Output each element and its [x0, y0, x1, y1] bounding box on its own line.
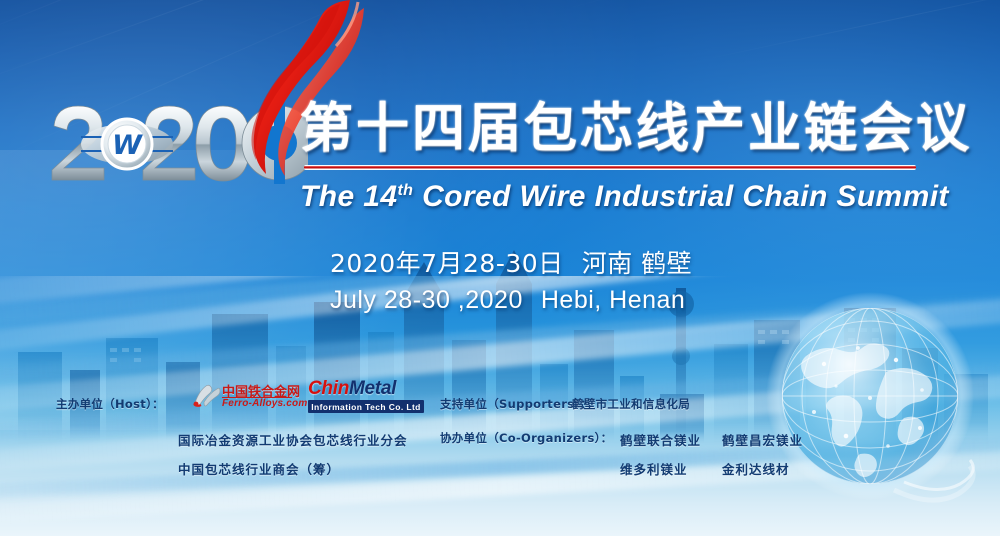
co-organizer-4: 金利达线材 — [722, 459, 790, 478]
event-date-cn: 2020年7月28-30日 — [330, 249, 564, 278]
supporters-value: 鹤壁市工业和信息化局 — [572, 396, 690, 412]
chinmetal-name-part1: Chin — [308, 378, 349, 399]
title-en-ordinal: th — [397, 182, 413, 199]
conference-title-english: The 14th Cored Wire Industrial Chain Sum… — [300, 172, 930, 216]
conference-banner: W 第十四届包芯线产业链会议 The 14th Cored Wire — [0, 0, 1000, 536]
chinmetal-logo: ChinMetal Information Tech Co. Ltd — [308, 378, 424, 414]
event-date-place-cn: 2020年7月28-30日河南 鹤壁 — [330, 246, 692, 282]
chinmetal-name-part2: Metal — [349, 378, 396, 399]
host-organization-2: 中国包芯线行业商会（筹） — [178, 459, 340, 478]
year-2020-logo: W — [46, 100, 308, 184]
chinmetal-wordmark: ChinMetal — [308, 378, 424, 399]
event-place-cn: 河南 鹤壁 — [582, 249, 692, 278]
chinmetal-subtitle: Information Tech Co. Ltd — [308, 400, 424, 413]
title-red-rule — [304, 165, 916, 170]
event-info-block: 2020年7月28-30日河南 鹤壁 July 28-30 ,2020Hebi,… — [330, 246, 692, 318]
host-organization-1: 国际冶金资源工业协会包芯线行业分会 — [178, 430, 408, 449]
event-date-place-en: July 28-30 ,2020Hebi, Henan — [330, 282, 692, 318]
co-organizers-label: 协办单位（Co-Organizers）： — [440, 430, 612, 446]
host-label: 主办单位（Host）： — [56, 396, 164, 412]
co-organizer-2: 鹤壁昌宏镁业 — [722, 430, 803, 449]
ferro-alloys-mark-icon — [192, 384, 220, 408]
event-date-en: July 28-30 ,2020 — [330, 286, 523, 314]
supporters-label: 支持单位（Supporters）： — [440, 396, 592, 412]
ferro-alloys-logo: 中国铁合金网 Ferro-Alloys.com — [192, 381, 294, 413]
co-organizer-3: 维多利镁业 — [620, 459, 688, 478]
event-place-en: Hebi, Henan — [541, 286, 685, 314]
conference-title-chinese: 第十四届包芯线产业链会议 — [300, 96, 930, 162]
title-block: 第十四届包芯线产业链会议 The 14th Cored Wire Industr… — [300, 96, 930, 216]
title-en-prefix: The 14 — [300, 180, 397, 213]
globe-graphic — [754, 286, 986, 518]
co-organizer-1: 鹤壁联合镁业 — [620, 430, 701, 449]
svg-text:W: W — [112, 130, 143, 161]
ferro-alloys-name-en: Ferro-Alloys.com — [222, 398, 307, 409]
title-en-suffix: Cored Wire Industrial Chain Summit — [413, 180, 948, 213]
